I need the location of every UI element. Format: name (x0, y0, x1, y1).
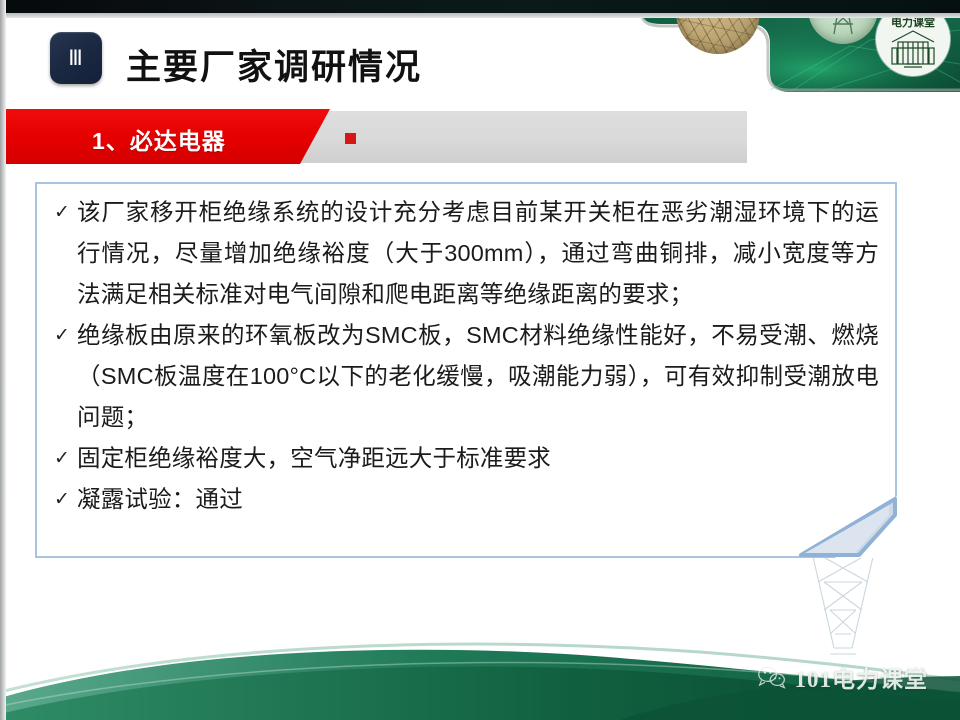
watermark-label: 101电力课堂 (795, 660, 929, 694)
slide-root: 101 电力课堂 Ⅲ 主要厂家调研情况 1、必达电器 ✓该厂家移开柜绝缘系统的设… (0, 0, 960, 720)
check-icon: ✓ (47, 315, 77, 356)
bullet-text: 固定柜绝缘裕度大，空气净距远大于标准要求 (77, 438, 879, 479)
bullet-item: ✓绝缘板由原来的环氧板改为SMC板，SMC材料绝缘性能好，不易受潮、燃烧（SMC… (47, 315, 879, 438)
bullet-item: ✓凝露试验：通过 (47, 479, 879, 520)
top-dark-strip (0, 0, 960, 13)
roman-three-glyph: Ⅲ (68, 48, 83, 69)
bullet-item: ✓该厂家移开柜绝缘系统的设计充分考虑目前某开关柜在恶劣潮湿环境下的运行情况，尽量… (47, 192, 879, 315)
check-icon: ✓ (47, 438, 77, 479)
page-title: 主要厂家调研情况 (126, 39, 422, 90)
roman-three-icon: Ⅲ (50, 32, 102, 84)
check-icon: ✓ (47, 479, 77, 520)
wechat-icon (757, 665, 787, 689)
bullet-list: ✓该厂家移开柜绝缘系统的设计充分考虑目前某开关柜在恶劣潮湿环境下的运行情况，尽量… (47, 192, 879, 520)
bottom-wave-decoration (0, 580, 960, 720)
top-gray-divider (0, 13, 960, 18)
section-title: 1、必达电器 (92, 122, 226, 156)
wechat-watermark: 101电力课堂 (757, 660, 929, 694)
section-bar: 1、必达电器 (0, 109, 960, 164)
slide-header: Ⅲ 主要厂家调研情况 (0, 18, 960, 98)
left-edge-strip (0, 0, 6, 720)
bullet-text: 该厂家移开柜绝缘系统的设计充分考虑目前某开关柜在恶劣潮湿环境下的运行情况，尽量增… (77, 192, 879, 315)
check-icon: ✓ (47, 192, 77, 233)
section-square-marker (345, 133, 356, 144)
content-panel: ✓该厂家移开柜绝缘系统的设计充分考虑目前某开关柜在恶劣潮湿环境下的运行情况，尽量… (35, 182, 897, 558)
bullet-item: ✓固定柜绝缘裕度大，空气净距远大于标准要求 (47, 438, 879, 479)
bullet-text: 凝露试验：通过 (77, 479, 879, 520)
bullet-text: 绝缘板由原来的环氧板改为SMC板，SMC材料绝缘性能好，不易受潮、燃烧（SMC板… (77, 315, 879, 438)
